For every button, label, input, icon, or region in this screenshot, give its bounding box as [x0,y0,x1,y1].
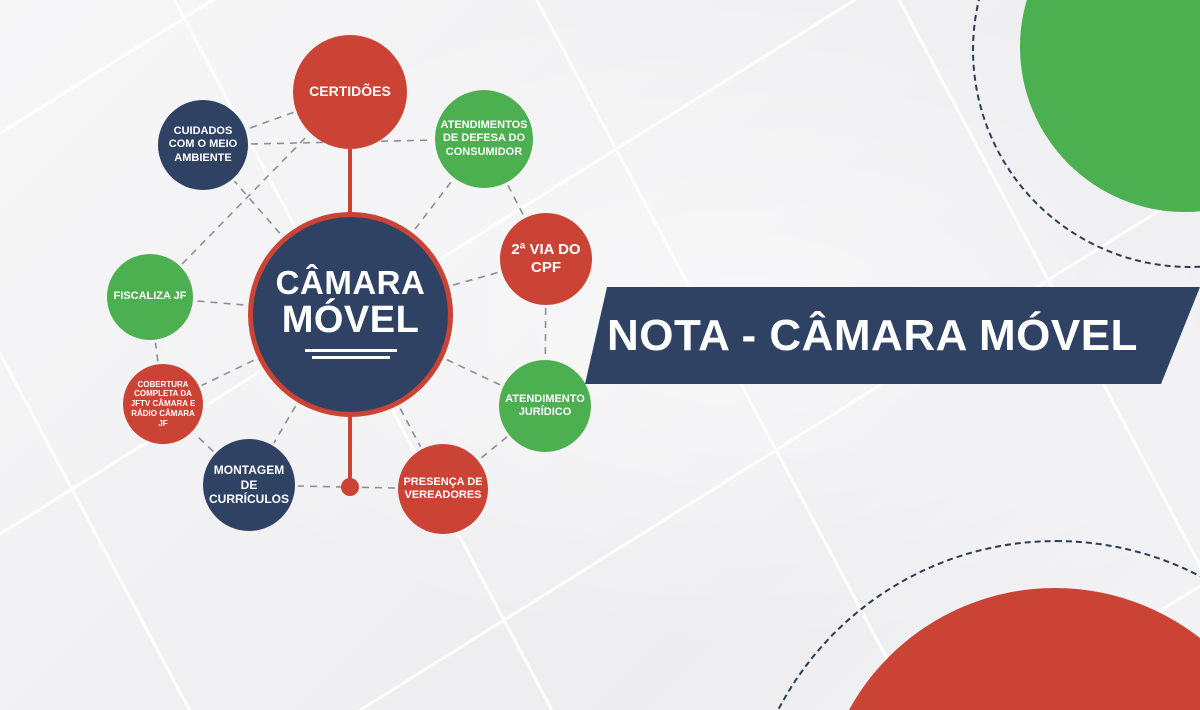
node-certidoes[interactable]: CERTIDÕES [293,35,407,149]
spoke-connector-hub-to-cuidados-meio-ambiente [235,181,280,233]
ring-connector-presenca-vereadores-to-montagem-curriculos [298,486,395,488]
hub-title-line1: CÂMARA [276,266,426,301]
node-label: CUIDADOS COM O MEIO AMBIENTE [162,125,244,165]
spoke-connector-hub-to-atendimentos-defesa-consumidor [415,180,452,229]
decorative-circle-green [1020,0,1200,212]
node-label: PRESENÇA DE VEREADORES [402,476,484,503]
infographic-canvas: NOTA - CÂMARA MÓVEL CERTIDÕESCUIDADOS CO… [0,0,1200,710]
spoke-connector-hub-to-fiscaliza-jf [196,301,244,305]
hub-title-line2: MÓVEL [282,301,420,341]
node-label: ATENDIMENTOS DE DEFESA DO CONSUMIDOR [439,119,529,159]
node-montagem-curriculos[interactable]: MONTAGEM DE CURRÍCULOS [203,439,295,531]
spoke-connector-hub-to-atendimento-juridico [447,360,501,385]
ring-connector-atendimento-juridico-to-presenca-vereadores [480,437,507,459]
ring-connector-cobertura-jftv-radio-to-fiscaliza-jf [156,343,158,362]
node-label: COBERTURA COMPLETA DA JFTV CÂMARA E RÁDI… [127,380,199,429]
ring-connector-atendimentos-defesa-consumidor-to-segunda-via-cpf [508,185,524,215]
node-label: 2ª VIA DO CPF [504,241,588,278]
stem-end-dot-icon [341,478,359,496]
spoke-connector-hub-to-montagem-curriculos [274,406,296,443]
spoke-connector-hub-to-cobertura-jftv-radio [202,360,254,385]
node-atendimentos-defesa-consumidor[interactable]: ATENDIMENTOS DE DEFESA DO CONSUMIDOR [435,90,533,188]
hub-underline-1 [305,349,397,352]
node-segunda-via-cpf[interactable]: 2ª VIA DO CPF [500,213,592,305]
node-cobertura-jftv-radio[interactable]: COBERTURA COMPLETA DA JFTV CÂMARA E RÁDI… [123,364,203,444]
node-label: FISCALIZA JF [114,290,187,303]
node-fiscaliza-jf[interactable]: FISCALIZA JF [107,254,193,340]
hub-underline-2 [312,356,390,359]
spoke-connector-hub-to-presenca-vereadores [400,408,420,446]
ring-connector-montagem-curriculos-to-cobertura-jftv-radio [194,433,213,451]
node-presenca-vereadores[interactable]: PRESENÇA DE VEREADORES [398,444,488,534]
hub-underline-group [305,349,397,363]
decorative-circle-red [820,588,1200,710]
radial-diagram: CERTIDÕESCUIDADOS COM O MEIO AMBIENTEATE… [0,0,700,710]
node-cuidados-meio-ambiente[interactable]: CUIDADOS COM O MEIO AMBIENTE [158,100,248,190]
node-label: MONTAGEM DE CURRÍCULOS [207,463,291,507]
center-hub-camara-movel[interactable]: CÂMARA MÓVEL [248,212,453,417]
spoke-connector-hub-to-segunda-via-cpf [453,272,499,285]
node-atendimento-juridico[interactable]: ATENDIMENTO JURÍDICO [499,360,591,452]
node-label: ATENDIMENTO JURÍDICO [503,393,587,420]
node-label: CERTIDÕES [309,83,391,100]
ring-connector-certidoes-to-cuidados-meio-ambiente [248,112,293,128]
